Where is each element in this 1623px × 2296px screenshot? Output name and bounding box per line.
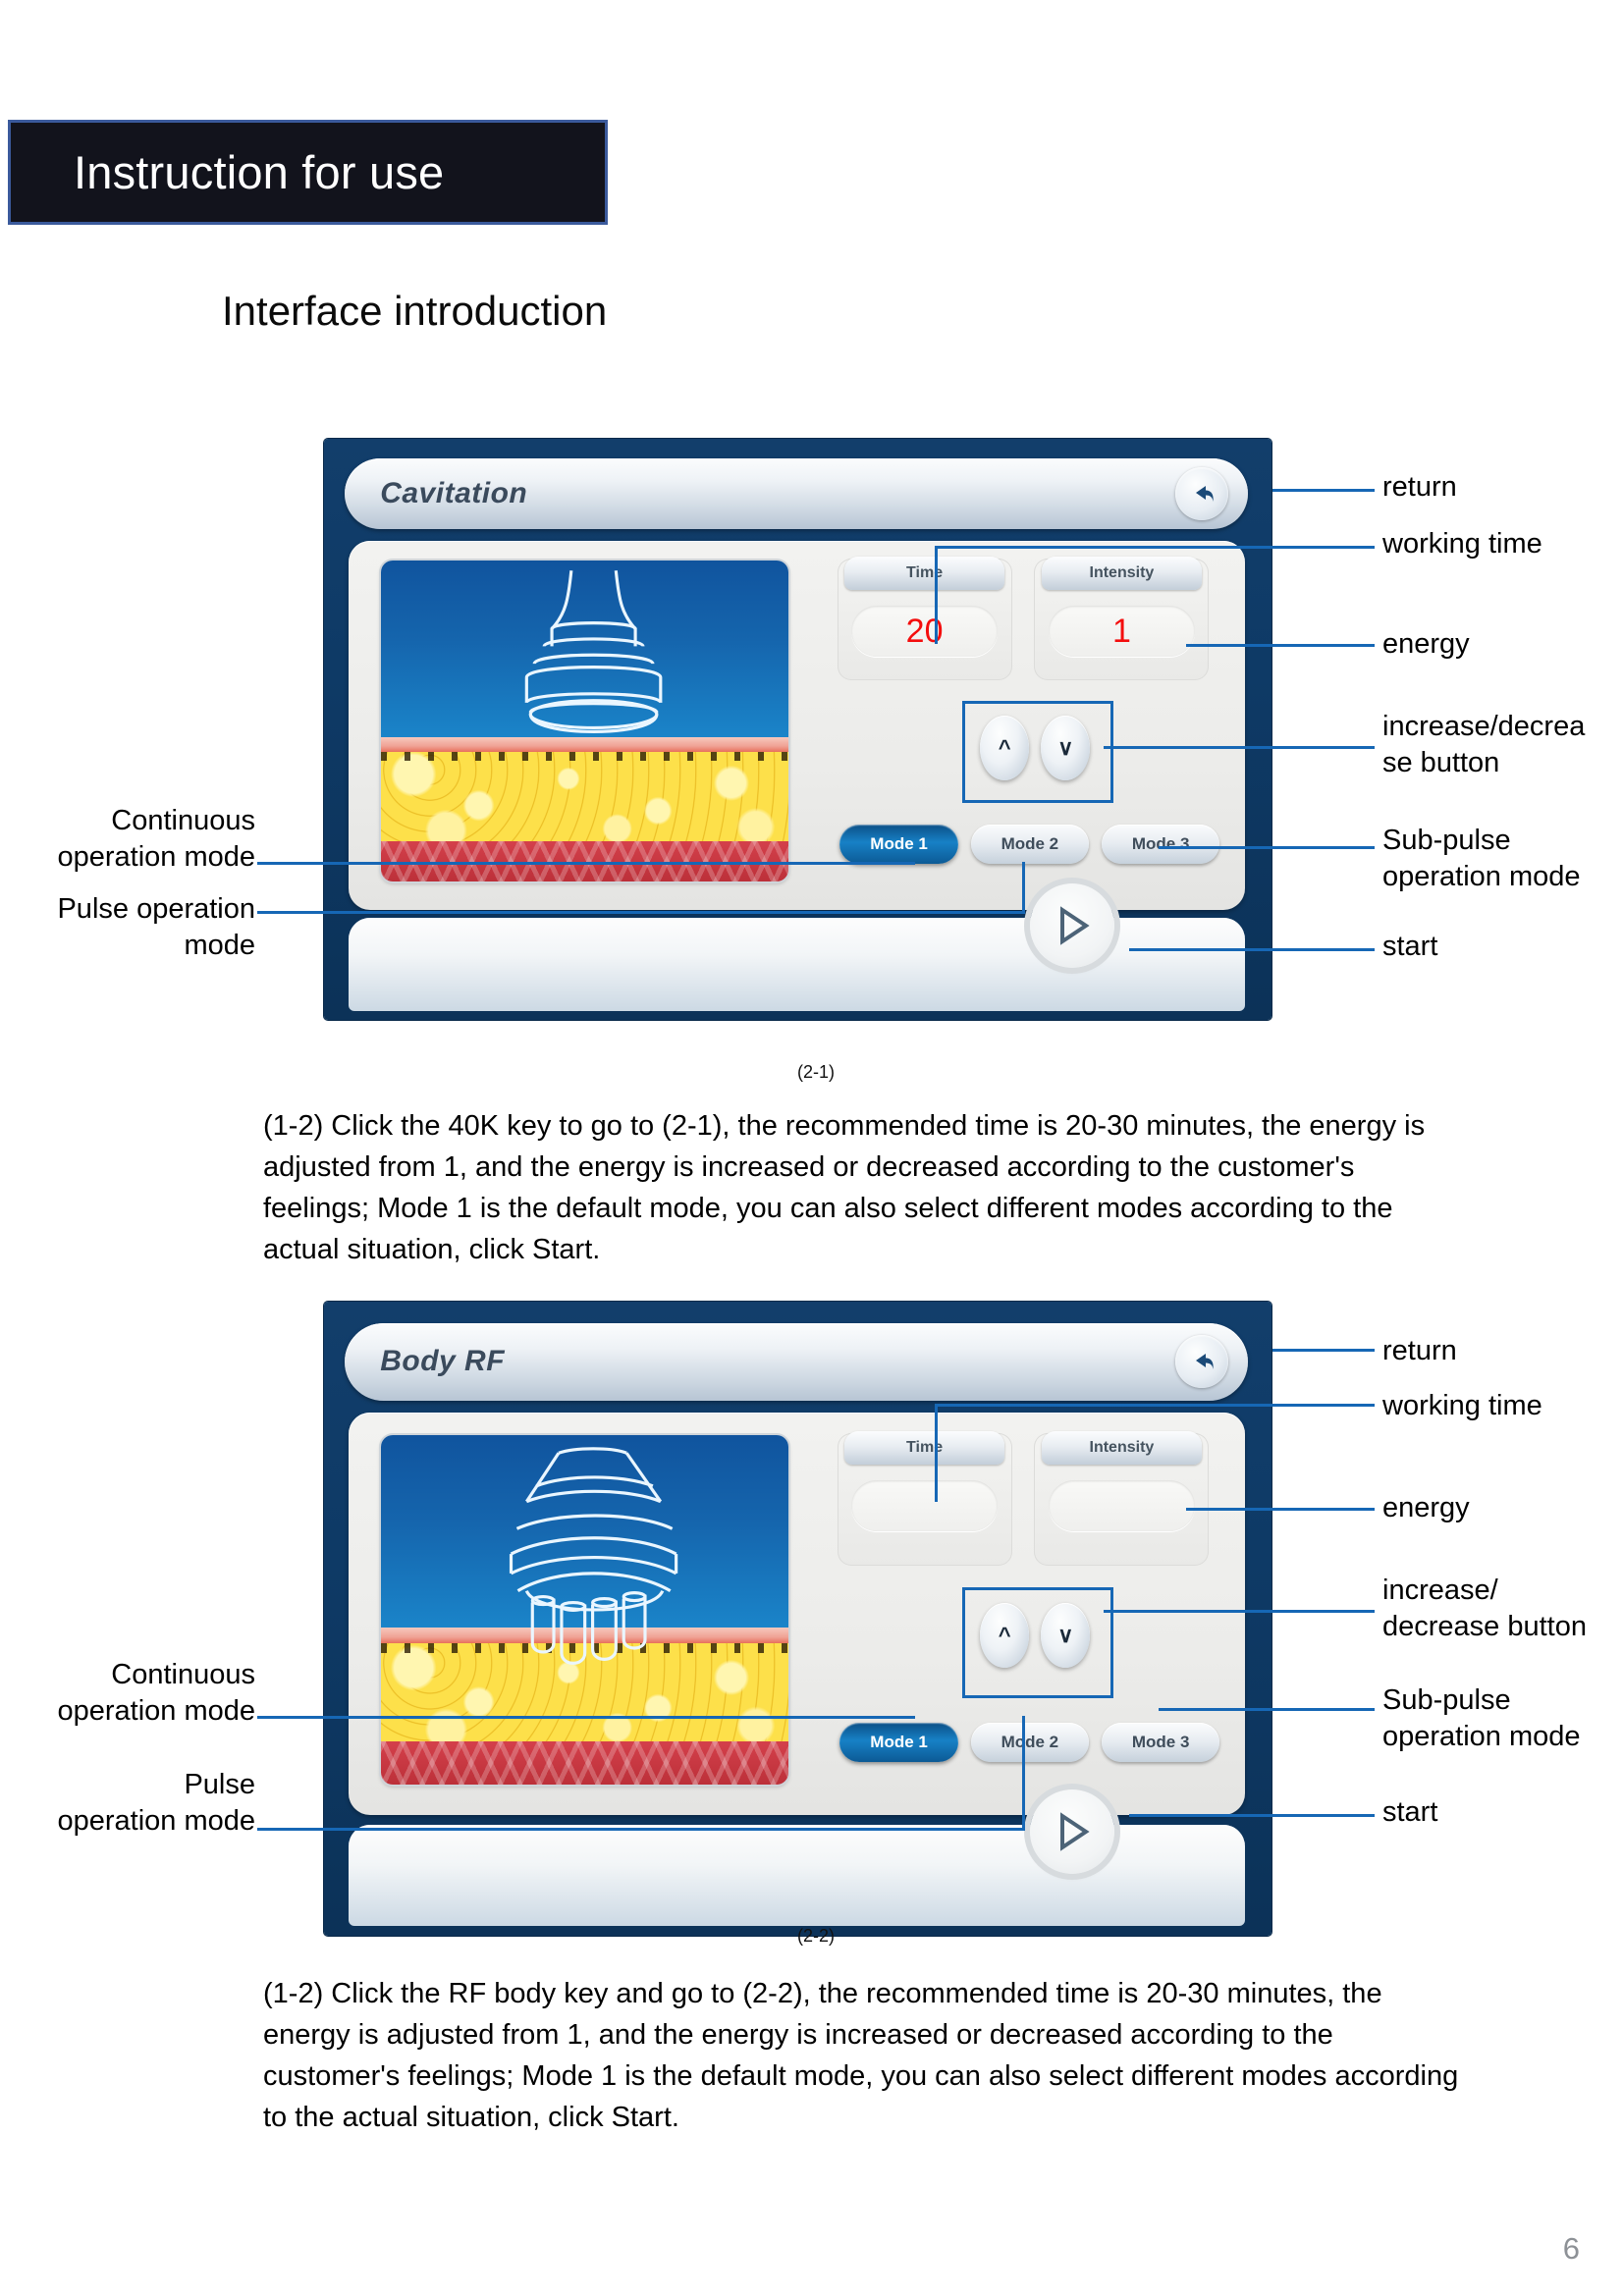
time-control-group: Time 20 (838, 559, 1012, 680)
device-screen-cavitation: Cavitation (324, 439, 1271, 1020)
figure-number-1: (2-1) (797, 1062, 835, 1083)
play-triangle-icon (1053, 1810, 1092, 1853)
annotation-energy-2: energy (1382, 1490, 1470, 1526)
working-time-value[interactable] (851, 1480, 999, 1531)
start-button[interactable] (1030, 883, 1114, 968)
rf-multipole-probe-icon (381, 1435, 788, 1786)
annotation-return-2: return (1382, 1333, 1457, 1369)
lead-working-time-2c (935, 1404, 938, 1502)
annotation-pulse-mode-1: Pulse operation mode (10, 891, 255, 964)
annotation-pulse-mode-2: Pulse operation mode (10, 1767, 255, 1840)
lead-continuous-1 (257, 862, 915, 865)
lead-pulse-2b (1022, 1716, 1025, 1830)
annotation-increase-decrease-1: increase/decrea se button (1382, 709, 1585, 781)
lead-increase-decrease-2 (1104, 1610, 1375, 1613)
lead-start-2 (1129, 1814, 1375, 1817)
illustration-rf-probe (381, 1435, 788, 1786)
lead-start-1 (1129, 948, 1375, 951)
annotation-working-time-2: working time (1382, 1388, 1542, 1424)
lead-working-time-1 (1272, 546, 1375, 549)
mode-3-button[interactable]: Mode 3 (1102, 1723, 1219, 1762)
lead-return-2 (1272, 1349, 1375, 1352)
lead-working-time-2b (935, 1404, 1274, 1407)
intensity-control-group: Intensity 1 (1034, 559, 1209, 680)
play-triangle-icon (1053, 904, 1092, 947)
annotation-continuous-mode-1: Continuous operation mode (10, 803, 255, 876)
device-screen-body-rf: Body RF (324, 1302, 1271, 1936)
cavitation-probe-icon (381, 561, 788, 881)
chapter-title-box: Instruction for use (8, 120, 608, 225)
time-control-group: Time (838, 1433, 1012, 1566)
chevron-up-icon[interactable]: ^ (980, 716, 1029, 780)
mode-2-button[interactable]: Mode 2 (971, 1723, 1089, 1762)
device-content-area: Time 20 Intensity 1 ^ ∨ Mode 1 Mode 2 Mo… (349, 541, 1245, 910)
annotation-increase-decrease-2: increase/ decrease button (1382, 1573, 1587, 1645)
chevron-up-icon[interactable]: ^ (980, 1603, 1029, 1668)
lead-increase-decrease-1 (1104, 746, 1375, 749)
start-button[interactable] (1030, 1789, 1114, 1874)
energy-value[interactable] (1049, 1480, 1196, 1531)
lead-working-time-2 (1272, 1404, 1375, 1407)
chevron-down-icon[interactable]: ∨ (1041, 1603, 1090, 1668)
lead-energy-2 (1186, 1508, 1375, 1511)
chevron-down-icon[interactable]: ∨ (1041, 716, 1090, 780)
lead-continuous-2 (257, 1716, 915, 1719)
device-title: Body RF (380, 1345, 505, 1378)
intensity-label: Intensity (1042, 1431, 1203, 1465)
intensity-control-group: Intensity (1034, 1433, 1209, 1566)
lead-return-1 (1272, 489, 1375, 492)
return-arrow-icon[interactable] (1175, 1335, 1228, 1388)
device-header-bar: Cavitation (345, 458, 1248, 529)
lead-working-time-1c (935, 546, 938, 644)
annotation-subpulse-1: Sub-pulse operation mode (1382, 823, 1581, 895)
caption-paragraph-2: (1-2) Click the RF body key and go to (2… (263, 1973, 1461, 2138)
time-label: Time (844, 557, 1005, 590)
lead-energy-1 (1186, 644, 1375, 647)
device-title: Cavitation (380, 477, 527, 510)
page-number: 6 (1563, 2231, 1580, 2267)
annotation-continuous-mode-2: Continuous operation mode (10, 1657, 255, 1730)
figure-number-2: (2-2) (797, 1926, 835, 1947)
caption-paragraph-1: (1-2) Click the 40K key to go to (2-1), … (263, 1105, 1432, 1270)
lead-working-time-1b (935, 546, 1274, 549)
mode-1-button[interactable]: Mode 1 (839, 825, 957, 864)
device-content-area: Time Intensity ^ ∨ Mode 1 Mode 2 Mode 3 (349, 1413, 1245, 1815)
annotation-start-1: start (1382, 929, 1437, 965)
working-time-value[interactable]: 20 (851, 606, 999, 657)
mode-1-button[interactable]: Mode 1 (839, 1723, 957, 1762)
increase-decrease-highlight: ^ ∨ (962, 701, 1113, 803)
device-header-bar: Body RF (345, 1323, 1248, 1401)
lead-pulse-2 (257, 1828, 1025, 1831)
page-title: Interface introduction (222, 288, 607, 335)
illustration-cavitation-probe (381, 561, 788, 881)
time-label: Time (844, 1431, 1005, 1465)
return-arrow-icon[interactable] (1175, 467, 1228, 520)
mode-2-button[interactable]: Mode 2 (971, 825, 1089, 864)
lead-pulse-1b (1022, 862, 1025, 913)
lead-subpulse-2 (1159, 1708, 1375, 1711)
annotation-start-2: start (1382, 1794, 1437, 1831)
intensity-label: Intensity (1042, 557, 1203, 590)
annotation-working-time-1: working time (1382, 526, 1542, 562)
mode-3-button[interactable]: Mode 3 (1102, 825, 1219, 864)
annotation-energy-1: energy (1382, 626, 1470, 663)
annotation-subpulse-2: Sub-pulse operation mode (1382, 1682, 1581, 1755)
chapter-title-text: Instruction for use (11, 145, 444, 199)
energy-value[interactable]: 1 (1049, 606, 1196, 657)
lead-pulse-1 (257, 911, 1025, 914)
lead-subpulse-1 (1159, 846, 1375, 849)
increase-decrease-highlight: ^ ∨ (962, 1587, 1113, 1698)
annotation-return-1: return (1382, 469, 1457, 506)
